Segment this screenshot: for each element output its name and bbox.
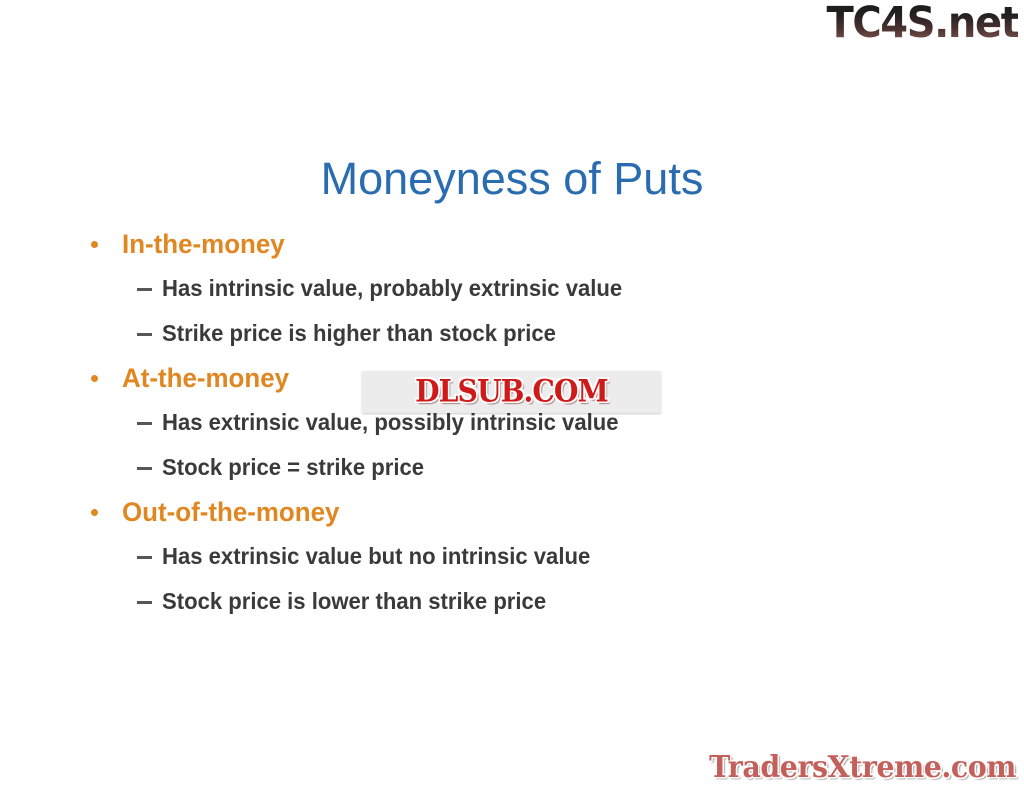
bullet-group-out-of-the-money: Out-of-the-money Has extrinsic value but… [86,490,936,624]
bullet-level1-label: In-the-money [122,231,285,258]
dash-marker-icon [137,467,152,470]
bullet-level2-item: Has extrinsic value but no intrinsic val… [86,534,936,579]
bullet-level2-item: Strike price is higher than stock price [86,311,936,356]
bullet-level2-item: Has intrinsic value, probably extrinsic … [86,266,936,311]
slide-body: In-the-money Has intrinsic value, probab… [86,222,936,624]
bullet-dot-icon [91,375,98,382]
bullet-level2-label: Has extrinsic value, possibly intrinsic … [162,411,619,434]
bullet-level1-in-the-money: In-the-money [86,222,936,266]
dash-marker-icon [137,422,152,425]
bullet-level2-label: Stock price = strike price [162,456,424,479]
dash-marker-icon [137,333,152,336]
tradersxtreme-footer-logo: TradersXtreme.com [709,753,1016,783]
bullet-dot-icon [91,509,98,516]
bullet-level2-item: Stock price is lower than strike price [86,579,936,624]
bullet-level1-label: Out-of-the-money [122,499,339,526]
dash-marker-icon [137,288,152,291]
tc4s-brand-logo: TC4S.net [826,2,1018,45]
bullet-level2-label: Has extrinsic value but no intrinsic val… [162,545,590,568]
bullet-level1-out-of-the-money: Out-of-the-money [86,490,936,534]
bullet-level2-label: Strike price is higher than stock price [162,322,556,345]
bullet-level2-label: Has intrinsic value, probably extrinsic … [162,277,622,300]
bullet-level2-label: Stock price is lower than strike price [162,590,546,613]
bullet-group-in-the-money: In-the-money Has intrinsic value, probab… [86,222,936,356]
bullet-level1-label: At-the-money [122,365,289,392]
bullet-dot-icon [91,241,98,248]
dash-marker-icon [137,556,152,559]
dash-marker-icon [137,601,152,604]
dlsub-watermark: DLSUB.COM [362,371,661,413]
page-title: Moneyness of Puts [0,154,1024,204]
presentation-slide: TC4S.net Moneyness of Puts In-the-money … [0,0,1024,791]
dlsub-watermark-text: DLSUB.COM [415,376,608,407]
bullet-level2-item: Stock price = strike price [86,445,936,490]
